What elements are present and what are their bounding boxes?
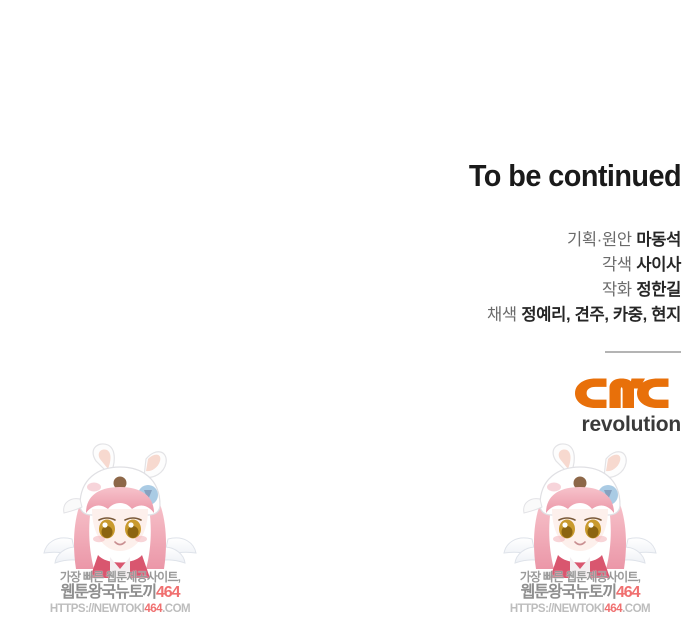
watermark-url-suffix: .COM <box>622 603 650 615</box>
cnc-logo-icon <box>573 373 681 413</box>
credit-role: 채색 <box>487 306 517 324</box>
watermark-tagline: 가장 빠른 웹툰제공사이트, <box>36 570 204 584</box>
watermark-site-name: 웹툰왕국뉴토끼464 <box>496 584 664 602</box>
watermark-site-name-number: 464 <box>616 584 639 601</box>
watermark-url: HTTPS://NEWTOKI464.COM <box>496 602 664 616</box>
watermark-block-left: 가장 빠른 웹툰제공사이트, 웹툰왕국뉴토끼464 HTTPS://NEWTOK… <box>36 443 204 628</box>
watermark-url-number: 464 <box>144 603 162 615</box>
credit-role: 작화 <box>602 281 632 299</box>
mascot-illustration <box>496 443 664 578</box>
site-watermark: 가장 빠른 웹툰제공사이트, 웹툰왕국뉴토끼464 HTTPS://NEWTOK… <box>36 570 204 616</box>
studio-logo-wordmark: revolution <box>573 414 681 435</box>
watermark-tagline: 가장 빠른 웹툰제공사이트, <box>496 570 664 584</box>
credit-row: 작화 정한길 <box>261 278 681 303</box>
credit-role: 각색 <box>602 256 632 274</box>
credit-name: 사이사 <box>636 256 681 274</box>
watermark-site-name-prefix: 웹툰왕국뉴토끼 <box>521 584 616 601</box>
credit-name: 정예리, 견주, 카중, 현지 <box>521 306 681 324</box>
site-watermark: 가장 빠른 웹툰제공사이트, 웹툰왕국뉴토끼464 HTTPS://NEWTOK… <box>496 570 664 616</box>
watermark-url-number: 464 <box>604 603 622 615</box>
credit-name: 마동석 <box>636 231 681 249</box>
credit-row: 채색 정예리, 견주, 카중, 현지 <box>261 303 681 328</box>
watermark-url-suffix: .COM <box>162 603 190 615</box>
studio-logo: revolution <box>573 373 681 435</box>
watermark-url-prefix: HTTPS://NEWTOKI <box>50 603 145 615</box>
watermark-site-name: 웹툰왕국뉴토끼464 <box>36 584 204 602</box>
credit-role: 기획·원안 <box>567 231 632 249</box>
credit-row: 각색 사이사 <box>261 253 681 278</box>
credits-list: 기획·원안 마동석 각색 사이사 작화 정한길 채색 정예리, 견주, 카중, … <box>261 228 681 328</box>
credit-name: 정한길 <box>636 281 681 299</box>
watermark-url-prefix: HTTPS://NEWTOKI <box>510 603 605 615</box>
watermark-site-name-number: 464 <box>156 584 179 601</box>
watermark-url: HTTPS://NEWTOKI464.COM <box>36 602 204 616</box>
watermark-block-right: 가장 빠른 웹툰제공사이트, 웹툰왕국뉴토끼464 HTTPS://NEWTOK… <box>496 443 664 628</box>
watermark-site-name-prefix: 웹툰왕국뉴토끼 <box>61 584 156 601</box>
credits-column: To be continued 기획·원안 마동석 각색 사이사 작화 정한길 … <box>261 160 681 436</box>
to-be-continued-text: To be continued <box>290 160 681 191</box>
comic-end-page: To be continued 기획·원안 마동석 각색 사이사 작화 정한길 … <box>0 0 690 628</box>
credit-row: 기획·원안 마동석 <box>261 228 681 253</box>
mascot-illustration <box>36 443 204 578</box>
credits-divider <box>605 351 681 353</box>
